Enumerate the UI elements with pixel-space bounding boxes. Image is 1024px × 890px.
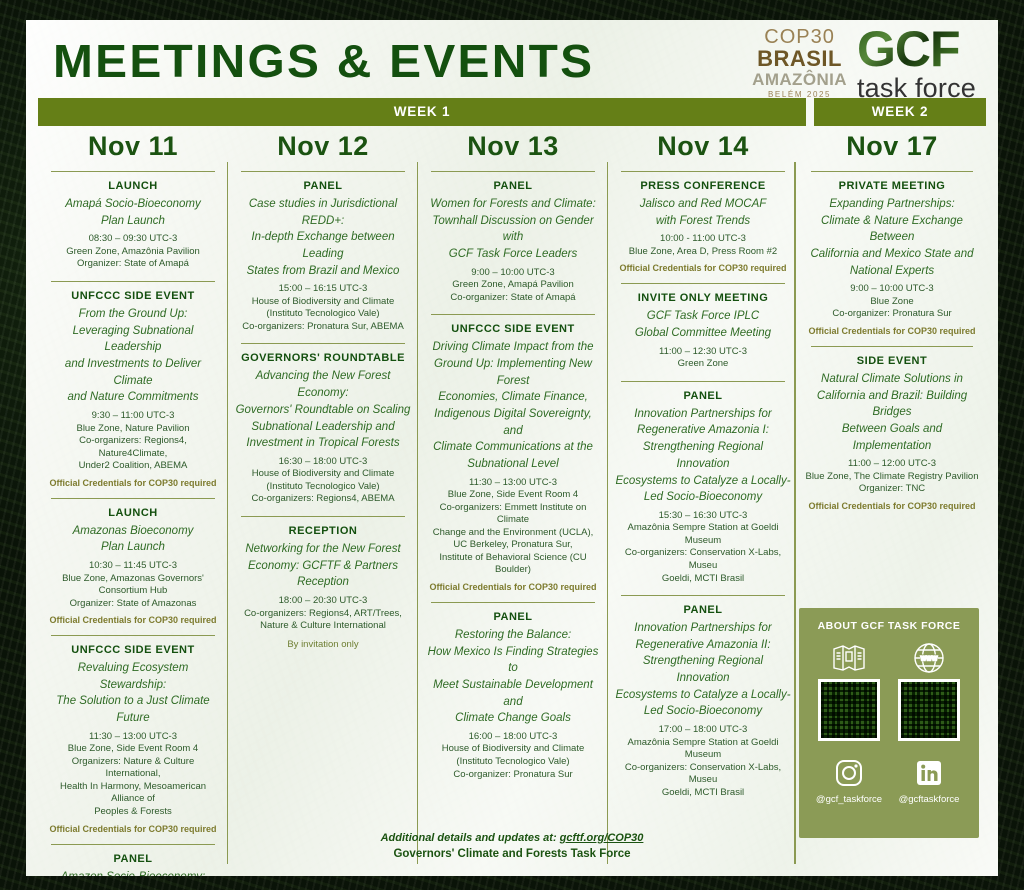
event-separator (51, 498, 215, 499)
event-details: 9:00 – 10:00 UTC-3Green Zone, Amapá Pavi… (425, 267, 601, 305)
event-kind: PANEL (615, 604, 791, 616)
day-label: Nov 12 (235, 126, 411, 171)
credentials-note: Official Credentials for COP30 required (615, 263, 791, 273)
event-separator (621, 283, 785, 284)
event-card[interactable]: LAUNCHAmapá Socio-BioeconomyPlan Launch0… (45, 179, 221, 276)
gcf-task-force-logo: GCF task force (857, 26, 976, 103)
instagram-handle: @gcf_taskforce (810, 794, 888, 805)
event-details: 9:00 – 10:00 UTC-3Blue ZoneCo-organizer:… (805, 283, 979, 321)
credentials-note: Official Credentials for COP30 required (805, 501, 979, 511)
event-title: Driving Climate Impact from theGround Up… (425, 339, 601, 472)
event-separator (241, 516, 405, 517)
event-details: 10:30 – 11:45 UTC-3Blue Zone, Amazonas G… (45, 560, 221, 610)
event-kind: LAUNCH (45, 180, 221, 192)
cop30-line1: COP30 (752, 27, 847, 47)
about-title: ABOUT GCF TASK FORCE (809, 620, 969, 632)
day-column-nov-13: Nov 13PANELWomen for Forests and Climate… (418, 126, 608, 864)
linkedin-icon (890, 755, 968, 791)
event-kind: GOVERNORS' ROUNDTABLE (235, 352, 411, 364)
event-title: Revaluing Ecosystem Stewardship:The Solu… (45, 660, 221, 727)
event-details: 15:00 – 16:15 UTC-3House of Biodiversity… (235, 283, 411, 333)
footer-link[interactable]: gcftf.org/COP30 (560, 832, 644, 844)
event-separator (811, 346, 973, 347)
qr-row: WWW (809, 641, 969, 741)
event-kind: PANEL (425, 611, 601, 623)
day-rule (431, 171, 595, 172)
credentials-note: Official Credentials for COP30 required (425, 582, 601, 592)
event-kind: PANEL (615, 390, 791, 402)
social-linkedin[interactable]: @gcftaskforce (890, 755, 968, 805)
event-separator (51, 281, 215, 282)
event-note: By invitation only (235, 639, 411, 650)
event-kind: RECEPTION (235, 525, 411, 537)
event-card[interactable]: PRESS CONFERENCEJalisco and Red MOCAFwit… (615, 179, 791, 278)
event-title: From the Ground Up:Leveraging Subnationa… (45, 306, 221, 406)
event-details: 16:30 – 18:00 UTC-3House of Biodiversity… (235, 456, 411, 506)
event-title: Expanding Partnerships:Climate & Nature … (805, 196, 979, 279)
qr-cell-website[interactable]: WWW (893, 641, 965, 741)
event-separator (621, 381, 785, 382)
event-details: 11:00 – 12:30 UTC-3Green Zone (615, 346, 791, 371)
event-card[interactable]: PRIVATE MEETINGExpanding Partnerships:Cl… (805, 179, 979, 341)
event-title: Natural Climate Solutions inCalifornia a… (805, 371, 979, 454)
logo-group: COP30 BRASIL AMAZÔNIA BELÉM 2025 GCF tas… (752, 26, 976, 103)
footer-org-name: Governors' Climate and Forests Task Forc… (26, 848, 998, 860)
day-column-nov-11: Nov 11LAUNCHAmapá Socio-BioeconomyPlan L… (38, 126, 228, 864)
event-separator (431, 314, 595, 315)
event-kind: SIDE EVENT (805, 355, 979, 367)
event-card[interactable]: UNFCCC SIDE EVENTRevaluing Ecosystem Ste… (45, 643, 221, 838)
instagram-icon (810, 755, 888, 791)
event-details: 11:30 – 13:00 UTC-3Blue Zone, Side Event… (45, 731, 221, 819)
page-title: MEETINGS & EVENTS (53, 34, 594, 88)
event-title: Innovation Partnerships forRegenerative … (615, 406, 791, 506)
event-title: Innovation Partnerships forRegenerative … (615, 620, 791, 720)
day-label: Nov 17 (805, 126, 979, 171)
gcf-logo-subtitle: task force (857, 76, 976, 102)
event-kind: PRIVATE MEETING (805, 180, 979, 192)
event-details: 10:00 - 11:00 UTC-3Blue Zone, Area D, Pr… (615, 233, 791, 258)
event-details: 17:00 – 18:00 UTC-3Amazônia Sempre Stati… (615, 724, 791, 799)
event-kind: PRESS CONFERENCE (615, 180, 791, 192)
event-details: 15:30 – 16:30 UTC-3Amazônia Sempre Stati… (615, 510, 791, 585)
day-rule (621, 171, 785, 172)
event-separator (241, 343, 405, 344)
linkedin-handle: @gcftaskforce (890, 794, 968, 805)
event-details: 18:00 – 20:30 UTC-3Co-organizers: Region… (235, 595, 411, 633)
cop30-line2: BRASIL (752, 48, 847, 70)
qr-cell-brochure[interactable] (813, 641, 885, 741)
event-card[interactable]: UNFCCC SIDE EVENTFrom the Ground Up:Leve… (45, 289, 221, 493)
event-title: GCF Task Force IPLCGlobal Committee Meet… (615, 308, 791, 341)
event-title: Advancing the New Forest Economy:Governo… (235, 368, 411, 451)
event-kind: PANEL (425, 180, 601, 192)
day-label: Nov 11 (45, 126, 221, 171)
day-label: Nov 14 (615, 126, 791, 171)
event-card[interactable]: INVITE ONLY MEETINGGCF Task Force IPLCGl… (615, 291, 791, 375)
day-rule (51, 171, 215, 172)
event-details: 16:00 – 18:00 UTC-3House of Biodiversity… (425, 731, 601, 781)
event-title: Amazon Socio-Bioeconomy:Subnational Stra… (45, 869, 221, 877)
event-card[interactable]: SIDE EVENTNatural Climate Solutions inCa… (805, 354, 979, 516)
day-column-nov-12: Nov 12PANELCase studies in Jurisdictiona… (228, 126, 418, 864)
event-kind: UNFCCC SIDE EVENT (425, 323, 601, 335)
svg-text:WWW: WWW (921, 656, 938, 662)
footer-prefix: Additional details and updates at: (381, 832, 560, 844)
event-title: Women for Forests and Climate:Townhall D… (425, 196, 601, 263)
event-card[interactable]: PANELWomen for Forests and Climate:Townh… (425, 179, 601, 309)
qr-code-brochure[interactable] (818, 679, 880, 741)
event-separator (431, 602, 595, 603)
footer-details-line: Additional details and updates at: gcftf… (26, 832, 998, 844)
event-title: Amazonas BioeconomyPlan Launch (45, 523, 221, 556)
event-card[interactable]: UNFCCC SIDE EVENTDriving Climate Impact … (425, 322, 601, 597)
cop30-line3: AMAZÔNIA (752, 71, 847, 88)
event-card[interactable]: PANELInnovation Partnerships forRegenera… (615, 603, 791, 804)
week-1-banner: WEEK 1 (38, 98, 806, 126)
event-title: Amapá Socio-BioeconomyPlan Launch (45, 196, 221, 229)
event-kind: UNFCCC SIDE EVENT (45, 290, 221, 302)
event-card[interactable]: GOVERNORS' ROUNDTABLEAdvancing the New F… (235, 351, 411, 510)
day-label: Nov 13 (425, 126, 601, 171)
credentials-note: Official Credentials for COP30 required (805, 326, 979, 336)
globe-www-icon: WWW (893, 641, 965, 675)
event-card[interactable]: RECEPTIONNetworking for the New ForestEc… (235, 524, 411, 655)
credentials-note: Official Credentials for COP30 required (45, 615, 221, 625)
credentials-note: Official Credentials for COP30 required (45, 478, 221, 488)
cop30-line4: BELÉM 2025 (752, 91, 847, 99)
event-details: 11:00 – 12:00 UTC-3Blue Zone, The Climat… (805, 458, 979, 496)
event-separator (51, 635, 215, 636)
poster-header: MEETINGS & EVENTS COP30 BRASIL AMAZÔNIA … (26, 20, 998, 98)
social-instagram[interactable]: @gcf_taskforce (810, 755, 888, 805)
event-title: Case studies in Jurisdictional REDD+:In-… (235, 196, 411, 279)
event-title: Jalisco and Red MOCAFwith Forest Trends (615, 196, 791, 229)
gcf-logo-initials: GCF (857, 26, 976, 74)
event-card[interactable]: PANELRestoring the Balance:How Mexico Is… (425, 610, 601, 786)
event-card[interactable]: PANELCase studies in Jurisdictional REDD… (235, 179, 411, 338)
brochure-icon (813, 641, 885, 675)
event-title: Restoring the Balance:How Mexico Is Find… (425, 627, 601, 727)
event-details: 11:30 – 13:00 UTC-3Blue Zone, Side Event… (425, 477, 601, 577)
event-title: Networking for the New ForestEconomy: GC… (235, 541, 411, 591)
day-rule (811, 171, 973, 172)
event-card[interactable]: PANELInnovation Partnerships forRegenera… (615, 389, 791, 590)
footer: Additional details and updates at: gcftf… (26, 832, 998, 860)
event-kind: UNFCCC SIDE EVENT (45, 644, 221, 656)
event-separator (621, 595, 785, 596)
event-kind: LAUNCH (45, 507, 221, 519)
about-gcf-task-force-box: ABOUT GCF TASK FORCE (799, 608, 979, 838)
event-details: 08:30 – 09:30 UTC-3Green Zone, Amazônia … (45, 233, 221, 271)
event-kind: PANEL (235, 180, 411, 192)
event-kind: INVITE ONLY MEETING (615, 292, 791, 304)
event-card[interactable]: LAUNCHAmazonas BioeconomyPlan Launch10:3… (45, 506, 221, 630)
poster-card: MEETINGS & EVENTS COP30 BRASIL AMAZÔNIA … (26, 20, 998, 876)
day-column-nov-14: Nov 14PRESS CONFERENCEJalisco and Red MO… (608, 126, 798, 864)
qr-code-website[interactable] (898, 679, 960, 741)
cop30-logo: COP30 BRASIL AMAZÔNIA BELÉM 2025 (752, 27, 847, 103)
event-details: 9:30 – 11:00 UTC-3Blue Zone, Nature Pavi… (45, 410, 221, 473)
day-rule (241, 171, 405, 172)
social-row: @gcf_taskforce @gcftaskforce (809, 755, 969, 805)
